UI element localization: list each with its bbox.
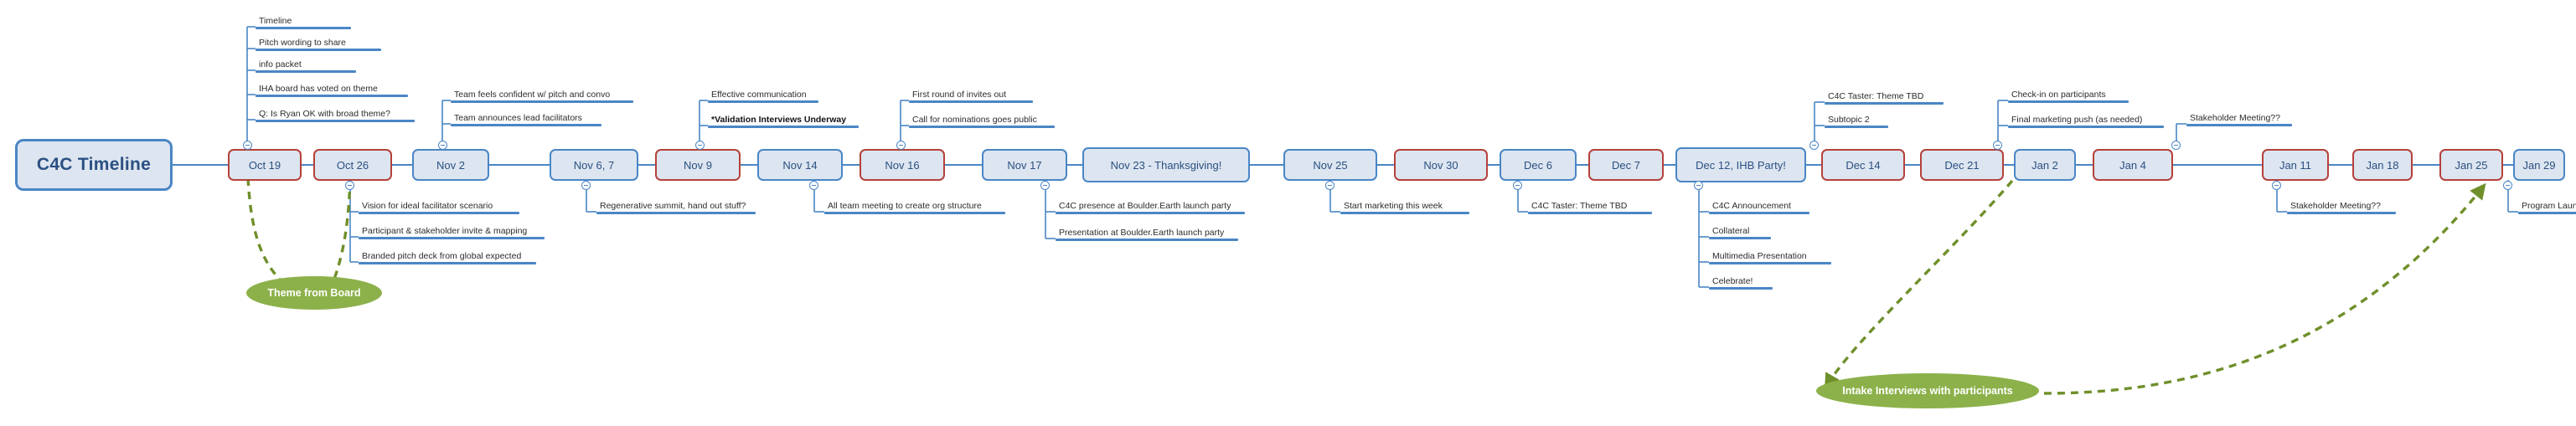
sub-item-label: Multimedia Presentation (1709, 251, 1831, 262)
sub-item-dec12-celebrate[interactable]: Celebrate! (1709, 276, 1773, 290)
sub-item-underline (359, 262, 536, 264)
date-node-label: Nov 30 (1423, 159, 1458, 172)
date-node-jan18[interactable]: Jan 18 (2352, 149, 2413, 181)
sub-item-dec12-collateral[interactable]: Collateral (1709, 226, 1771, 239)
sub-item-underline (256, 95, 408, 97)
sub-item-underline (1709, 287, 1773, 290)
sub-item-oct26-team-confident[interactable]: Team feels confident w/ pitch and convo (451, 90, 633, 103)
date-node-label: Nov 14 (782, 159, 817, 172)
callout-bubble-label: Theme from Board (267, 287, 360, 299)
collapse-handle-jan11[interactable] (2171, 141, 2181, 150)
sub-item-underline (909, 100, 1033, 103)
sub-item-underline (824, 212, 1005, 214)
sub-item-underline (2518, 212, 2576, 214)
collapse-handle-dec6[interactable] (1513, 181, 1522, 190)
date-node-oct19[interactable]: Oct 19 (228, 149, 302, 181)
date-node-jan2[interactable]: Jan 2 (2014, 149, 2076, 181)
sub-item-label: C4C Announcement (1709, 201, 1809, 212)
sub-item-underline (256, 27, 351, 29)
sub-item-oct26-vision-facilitator[interactable]: Vision for ideal facilitator scenario (359, 201, 519, 214)
sub-item-oct19-ryan-question[interactable]: Q: Is Ryan OK with broad theme? (256, 109, 415, 122)
branch-dec12-below (1699, 180, 1709, 287)
sub-item-label: Start marketing this week (1340, 201, 1469, 212)
sub-item-nov16-first-invites[interactable]: First round of invites out (909, 90, 1033, 103)
collapse-handle-nov2[interactable] (438, 141, 447, 150)
date-node-jan11[interactable]: Jan 11 (2262, 149, 2329, 181)
sub-item-jan2-final-marketing[interactable]: Final marketing push (as needed) (2008, 115, 2164, 128)
sub-item-dec14-c4c-taster[interactable]: C4C Taster: Theme TBD (1825, 91, 1944, 105)
sub-item-oct26-lead-facilitators[interactable]: Team announces lead facilitators (451, 113, 601, 126)
sub-item-label: Pitch wording to share (256, 38, 381, 49)
collapse-handle-oct19[interactable] (243, 141, 252, 150)
sub-item-label: Celebrate! (1709, 276, 1773, 287)
sub-item-label: Check-in on participants (2008, 90, 2129, 100)
sub-item-label: Subtopic 2 (1825, 115, 1888, 126)
sub-item-underline (708, 100, 818, 103)
timeline-diagram-canvas: C4C Timeline Oct 19 Oct 26 Nov 2 Nov 6, … (0, 0, 2576, 426)
sub-item-underline (1709, 262, 1831, 264)
sub-item-label: Call for nominations goes public (909, 115, 1055, 126)
sub-item-underline (2287, 212, 2396, 214)
sub-item-label: info packet (256, 59, 356, 70)
date-node-dec6[interactable]: Dec 6 (1500, 149, 1577, 181)
date-node-nov67[interactable]: Nov 6, 7 (550, 149, 638, 181)
sub-item-label: C4C presence at Boulder.Earth launch par… (1056, 201, 1245, 212)
date-node-label: Oct 26 (337, 159, 369, 172)
date-node-label: Nov 25 (1313, 159, 1347, 172)
sub-item-jan11-stakeholder-meeting[interactable]: Stakeholder Meeting?? (2186, 113, 2292, 126)
callout-bubble-intake-interviews[interactable]: Intake Interviews with participants (1816, 373, 2039, 408)
branch-oct19-above (247, 27, 256, 149)
sub-item-oct19-info-packet[interactable]: info packet (256, 59, 356, 73)
sub-item-underline (1056, 212, 1245, 214)
date-node-label: Jan 2 (2031, 159, 2058, 172)
date-node-label: Dec 21 (1944, 159, 1979, 172)
collapse-handle-nov17[interactable] (1040, 181, 1050, 190)
sub-item-underline (359, 237, 545, 239)
date-node-nov9[interactable]: Nov 9 (655, 149, 741, 181)
callout-bubble-theme-from-board[interactable]: Theme from Board (246, 276, 382, 310)
date-node-nov25[interactable]: Nov 25 (1283, 149, 1377, 181)
date-node-dec14[interactable]: Dec 14 (1821, 149, 1905, 181)
sub-item-label: Team feels confident w/ pitch and convo (451, 90, 633, 100)
date-node-nov2[interactable]: Nov 2 (412, 149, 489, 181)
date-node-label: Nov 16 (885, 159, 919, 172)
sub-item-nov25-start-marketing[interactable]: Start marketing this week (1340, 201, 1469, 214)
date-node-label: Dec 6 (1524, 159, 1552, 172)
date-node-jan4[interactable]: Jan 4 (2093, 149, 2173, 181)
date-node-dec21[interactable]: Dec 21 (1920, 149, 2004, 181)
sub-item-label: Vision for ideal facilitator scenario (359, 201, 519, 212)
sub-item-label: Effective communication (708, 90, 818, 100)
branch-oct26-below (350, 180, 359, 262)
sub-item-underline (256, 120, 415, 122)
date-node-nov16[interactable]: Nov 16 (860, 149, 945, 181)
date-node-label: Jan 11 (2279, 159, 2311, 172)
sub-item-underline (359, 212, 519, 214)
sub-item-nov17-presentation[interactable]: Presentation at Boulder.Earth launch par… (1056, 228, 1238, 241)
sub-item-underline (451, 100, 633, 103)
sub-item-underline (256, 49, 381, 51)
date-node-label: Oct 19 (249, 159, 281, 172)
sub-item-label: Q: Is Ryan OK with broad theme? (256, 109, 415, 120)
sub-item-oct19-iha-board[interactable]: IHA board has voted on theme (256, 84, 408, 97)
sub-item-dec12-multimedia[interactable]: Multimedia Presentation (1709, 251, 1831, 264)
sub-item-underline (2008, 100, 2129, 103)
date-node-label: Nov 23 - Thanksgiving! (1111, 159, 1222, 172)
collapse-handle-jan29[interactable] (2503, 181, 2512, 190)
date-node-nov23[interactable]: Nov 23 - Thanksgiving! (1082, 147, 1250, 182)
sub-item-oct26-branded-deck[interactable]: Branded pitch deck from global expected (359, 251, 536, 264)
date-node-label: Jan 25 (2455, 159, 2487, 172)
date-node-label: Jan 18 (2366, 159, 2398, 172)
sub-item-label: Regenerative summit, hand out stuff? (596, 201, 756, 212)
sub-item-label: Program Launch!! (2518, 201, 2576, 212)
date-node-label: Nov 9 (684, 159, 712, 172)
date-node-label: Nov 2 (436, 159, 465, 172)
date-node-nov17[interactable]: Nov 17 (982, 149, 1067, 181)
sub-item-oct26-invite-mapping[interactable]: Participant & stakeholder invite & mappi… (359, 226, 545, 239)
root-node-label: C4C Timeline (37, 155, 151, 175)
sub-item-label: Collateral (1709, 226, 1771, 237)
collapse-handle-oct26[interactable] (345, 181, 354, 190)
sub-item-nov67-regenerative-summit[interactable]: Regenerative summit, hand out stuff? (596, 201, 756, 214)
date-node-label: Nov 6, 7 (574, 159, 614, 172)
sub-item-label: C4C Taster: Theme TBD (1528, 201, 1652, 212)
sub-item-label: Team announces lead facilitators (451, 113, 601, 124)
sub-item-dec14-subtopic-2[interactable]: Subtopic 2 (1825, 115, 1888, 128)
sub-item-underline (1056, 239, 1238, 241)
sub-item-label: *Validation Interviews Underway (708, 115, 859, 126)
sub-item-jan29-program-launch[interactable]: Program Launch!! (2518, 201, 2576, 214)
sub-item-nov9-effective-communication[interactable]: Effective communication (708, 90, 818, 103)
sub-item-underline (1709, 237, 1771, 239)
sub-item-label: C4C Taster: Theme TBD (1825, 91, 1944, 102)
sub-item-underline (596, 212, 756, 214)
sub-item-nov17-c4c-presence[interactable]: C4C presence at Boulder.Earth launch par… (1056, 201, 1245, 214)
date-node-label: Dec 12, IHB Party! (1696, 159, 1786, 172)
sub-item-label: Final marketing push (as needed) (2008, 115, 2164, 126)
collapse-handle-nov9[interactable] (695, 141, 705, 150)
date-node-label: Dec 14 (1846, 159, 1880, 172)
collapse-handle-jan2[interactable] (1993, 141, 2002, 150)
sub-item-oct19-pitch-wording[interactable]: Pitch wording to share (256, 38, 381, 51)
sub-item-dec6-c4c-taster[interactable]: C4C Taster: Theme TBD (1528, 201, 1652, 214)
collapse-handle-nov14[interactable] (809, 181, 818, 190)
sub-item-nov16-call-nominations[interactable]: Call for nominations goes public (909, 115, 1055, 128)
date-node-nov30[interactable]: Nov 30 (1394, 149, 1488, 181)
sub-item-label: Participant & stakeholder invite & mappi… (359, 226, 545, 237)
root-node-c4c-timeline[interactable]: C4C Timeline (15, 139, 173, 191)
sub-item-underline (1825, 126, 1888, 128)
sub-item-underline (909, 126, 1055, 128)
sub-item-oct19-timeline[interactable]: Timeline (256, 16, 351, 29)
sub-item-underline (2186, 124, 2292, 126)
sub-item-underline (1709, 212, 1809, 214)
sub-item-underline (1528, 212, 1652, 214)
sub-item-underline (1825, 102, 1944, 105)
sub-item-label: Stakeholder Meeting?? (2287, 201, 2396, 212)
sub-item-underline (451, 124, 601, 126)
sub-item-label: All team meeting to create org structure (824, 201, 1005, 212)
date-node-label: Dec 7 (1612, 159, 1640, 172)
collapse-handle-dec14[interactable] (1809, 141, 1819, 150)
date-node-label: Nov 17 (1007, 159, 1041, 172)
collapse-handle-nov67[interactable] (581, 181, 591, 190)
date-node-dec12[interactable]: Dec 12, IHB Party! (1675, 147, 1806, 182)
collapse-handle-jan18[interactable] (2272, 181, 2281, 190)
sub-item-dec12-announcement[interactable]: C4C Announcement (1709, 201, 1809, 214)
sub-item-label: Branded pitch deck from global expected (359, 251, 536, 262)
sub-item-underline (256, 70, 356, 73)
date-node-label: Jan 29 (2522, 159, 2555, 172)
sub-item-jan2-check-in[interactable]: Check-in on participants (2008, 90, 2129, 103)
sub-item-underline (708, 126, 859, 128)
collapse-handle-nov25[interactable] (1325, 181, 1334, 190)
sub-item-label: First round of invites out (909, 90, 1033, 100)
sub-item-underline (1340, 212, 1469, 214)
callout-bubble-label: Intake Interviews with participants (1842, 385, 2013, 397)
collapse-handle-nov16[interactable] (896, 141, 906, 150)
date-node-label: Jan 4 (2119, 159, 2146, 172)
date-node-oct26[interactable]: Oct 26 (313, 149, 392, 181)
sub-item-label: IHA board has voted on theme (256, 84, 408, 95)
sub-item-jan18-stakeholder-meeting[interactable]: Stakeholder Meeting?? (2287, 201, 2396, 214)
sub-item-nov14-all-team-meeting[interactable]: All team meeting to create org structure (824, 201, 1005, 214)
date-node-jan29[interactable]: Jan 29 (2513, 149, 2565, 181)
sub-item-underline (2008, 126, 2164, 128)
collapse-handle-dec12[interactable] (1694, 181, 1703, 190)
sub-item-label: Presentation at Boulder.Earth launch par… (1056, 228, 1238, 239)
sub-item-label: Stakeholder Meeting?? (2186, 113, 2292, 124)
date-node-nov14[interactable]: Nov 14 (757, 149, 843, 181)
date-node-dec7[interactable]: Dec 7 (1588, 149, 1664, 181)
sub-item-nov9-validation-interviews[interactable]: *Validation Interviews Underway (708, 115, 859, 128)
date-node-jan25[interactable]: Jan 25 (2439, 149, 2503, 181)
sub-item-label: Timeline (256, 16, 351, 27)
